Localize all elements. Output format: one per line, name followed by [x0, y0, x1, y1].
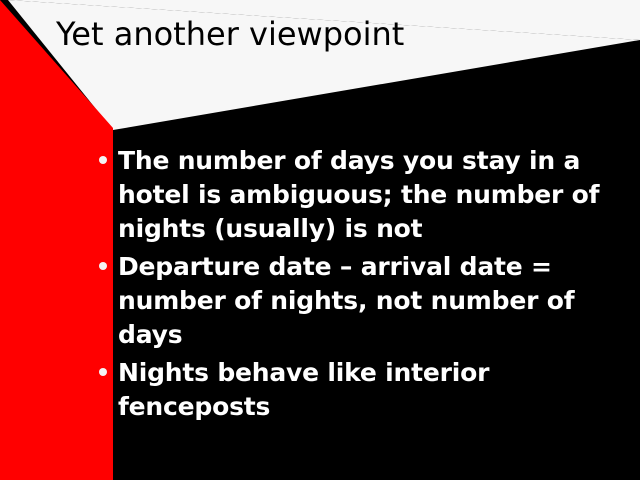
bullet-marker-icon — [99, 262, 107, 270]
slide-bullet-list: The number of days you stay in a hotel i… — [96, 144, 640, 428]
bullet-text: Departure date – arrival date = number o… — [118, 250, 640, 352]
bullet-marker-icon — [99, 156, 107, 164]
slide-title: Yet another viewpoint — [56, 12, 596, 56]
bullet-text: Nights behave like interior fenceposts — [118, 356, 640, 424]
list-item: Departure date – arrival date = number o… — [96, 250, 640, 352]
presentation-slide: Yet another viewpoint The number of days… — [0, 0, 640, 480]
list-item: The number of days you stay in a hotel i… — [96, 144, 640, 246]
list-item: Nights behave like interior fenceposts — [96, 356, 640, 424]
bullet-marker-icon — [99, 368, 107, 376]
bullet-text: The number of days you stay in a hotel i… — [118, 144, 640, 246]
